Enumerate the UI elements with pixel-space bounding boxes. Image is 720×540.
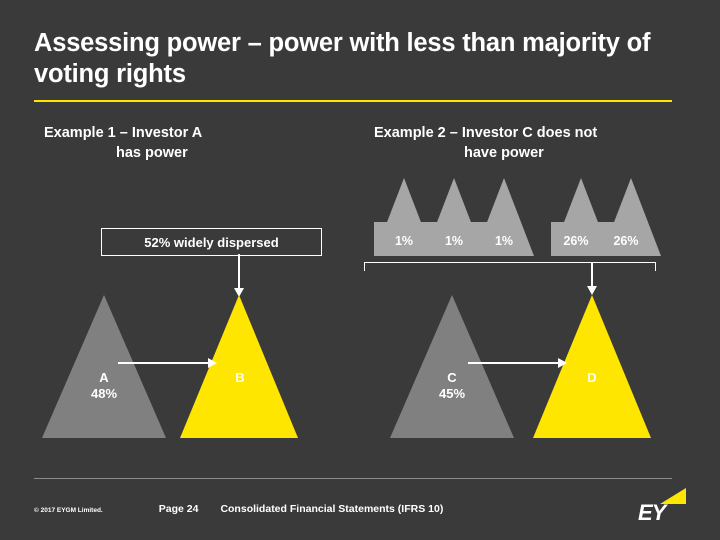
small-holder-2-percent: 1% [434,234,474,248]
small-holder-4-percent: 26% [556,234,596,248]
triangle-investee-b [180,295,298,438]
small-holder-3-percent: 1% [484,234,524,248]
triangle-investor-a [42,295,166,438]
control-arrow-2-head [558,358,567,368]
callout-arrow-line [238,254,240,290]
triangle-investee-b-label: B [200,370,280,386]
document-title: Consolidated Financial Statements (IFRS … [220,503,443,515]
triangle-investor-a-label: A 48% [64,370,144,403]
control-arrow-1-line [118,362,210,364]
control-arrow-2-line [468,362,560,364]
example-1-heading-line1: Example 1 – Investor A [44,124,324,144]
small-holders-bracket [364,262,656,271]
ey-logo: EY [634,488,686,526]
slide-canvas: Assessing power – power with less than m… [0,0,720,540]
investor-c-name: C [412,370,492,386]
example-1-heading-line2: has power [44,144,324,164]
ey-logo-text: EY [638,500,665,526]
triangle-investee-d-label: D [552,370,632,386]
example-2-heading-line1: Example 2 – Investor C does not [374,124,674,144]
triangle-investor-c [390,295,514,438]
footer: © 2017 EYGM Limited. Page 24 Consolidate… [34,503,634,515]
small-holder-1-percent: 1% [384,234,424,248]
triangle-investee-d [533,295,651,438]
investee-d-name: D [552,370,632,386]
title-block: Assessing power – power with less than m… [34,28,674,90]
example-2-heading: Example 2 – Investor C does not have pow… [374,124,674,163]
footer-divider [34,478,672,479]
triangle-investor-c-label: C 45% [412,370,492,403]
callout-box-dispersed-holding: 52% widely dispersed [101,228,322,256]
example-2-heading-line2: have power [374,144,674,164]
title-divider [34,100,672,102]
investor-a-name: A [64,370,144,386]
investor-a-percent: 48% [64,386,144,402]
copyright-text: © 2017 EYGM Limited. [34,507,103,514]
page-title: Assessing power – power with less than m… [34,28,674,90]
holders-arrow-line [591,262,593,288]
small-holder-5-percent: 26% [606,234,646,248]
holders-arrow-head [587,286,597,295]
example-1-heading: Example 1 – Investor A has power [44,124,324,163]
investee-b-name: B [200,370,280,386]
investor-c-percent: 45% [412,386,492,402]
page-number: Page 24 [159,503,199,515]
control-arrow-1-head [208,358,217,368]
